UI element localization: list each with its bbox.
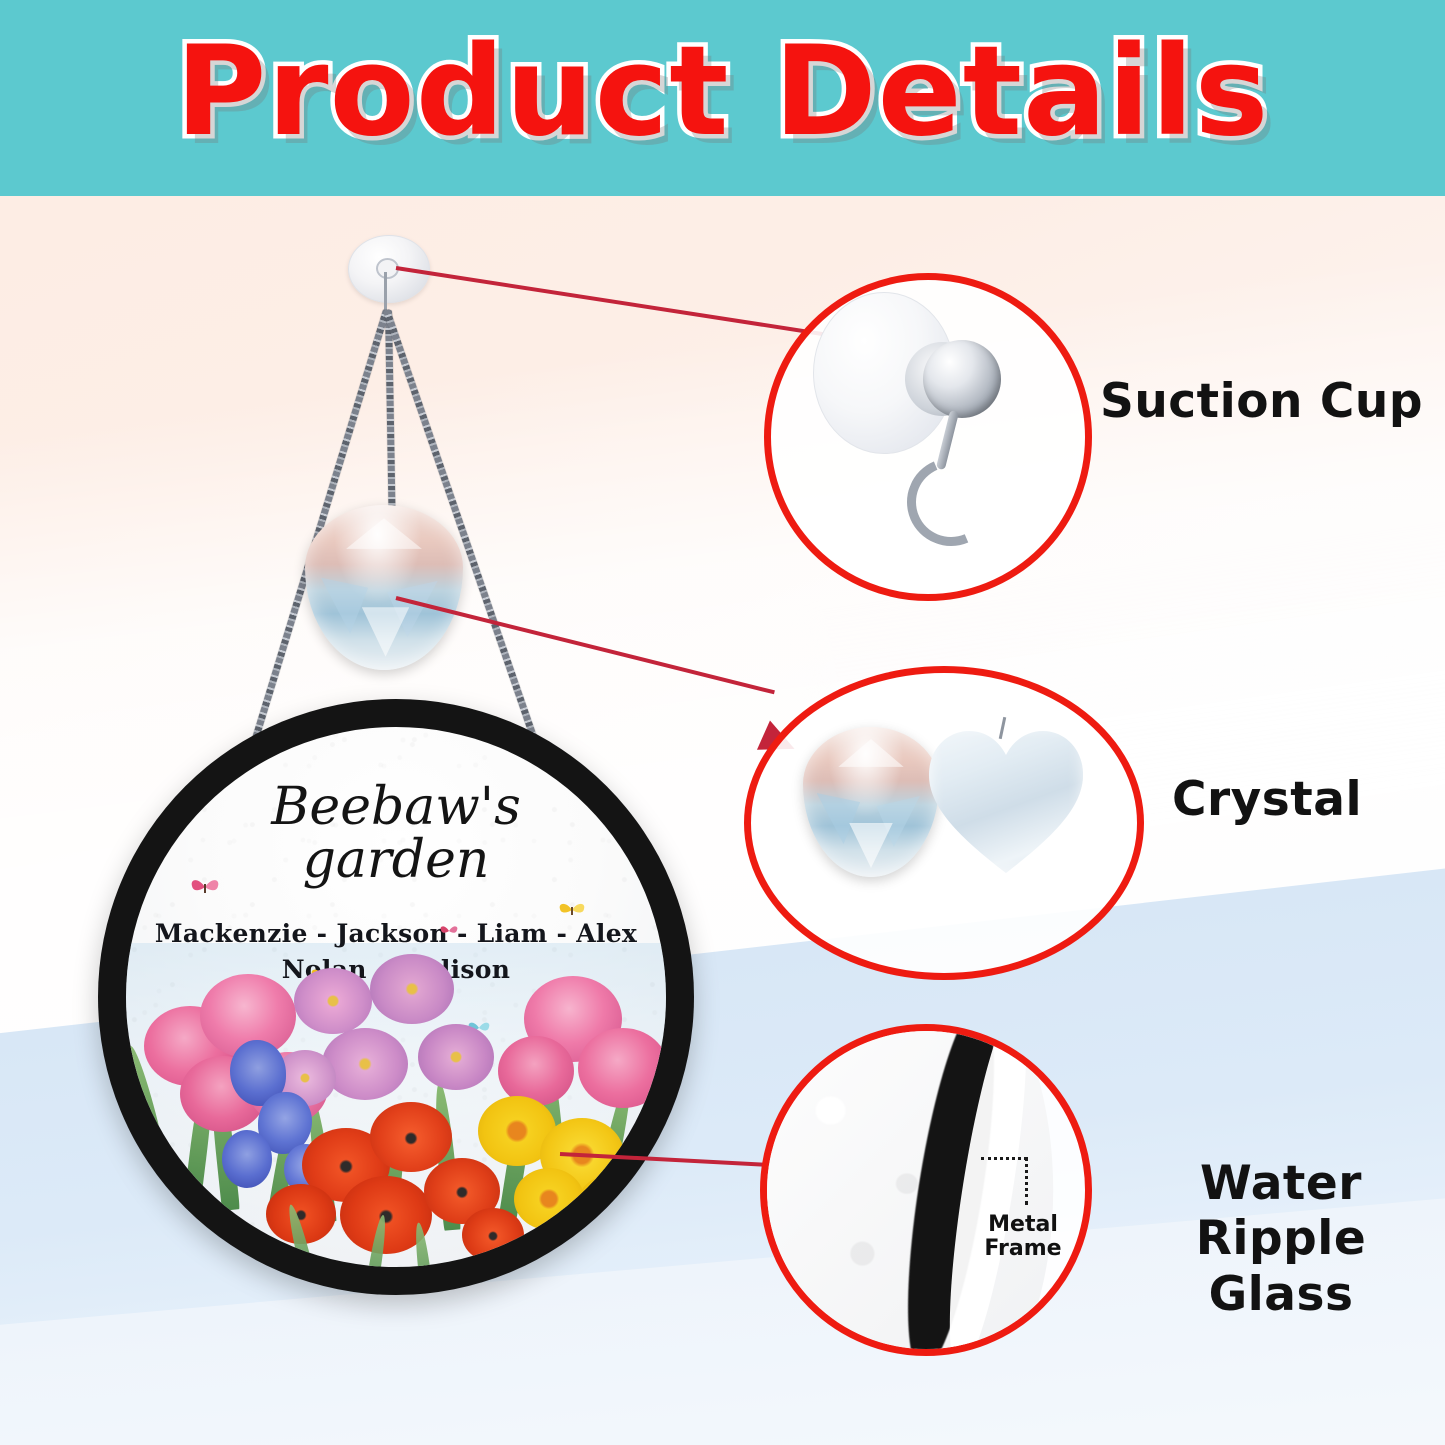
- flower-cornflower-blue: [222, 1130, 272, 1188]
- metal-frame-line2: Frame: [963, 1237, 1083, 1261]
- hook-icon: [894, 445, 1009, 560]
- flower-cosmos-purple: [294, 968, 372, 1034]
- metal-frame-annotation: Metal Frame: [963, 1213, 1083, 1261]
- header-banner: Product Details: [0, 0, 1445, 196]
- crystal-heart-detail: [929, 725, 1083, 873]
- suction-cup-stem: [384, 272, 387, 312]
- callout-suction-cup: [764, 273, 1092, 601]
- callout-label-suction-cup: Suction Cup: [1100, 374, 1423, 429]
- flower-poppy-red: [462, 1208, 524, 1262]
- suncatcher-title-line1: Beebaw's: [271, 777, 521, 837]
- metal-frame-line1: Metal: [963, 1213, 1083, 1237]
- crystal-ball-detail: [803, 727, 939, 877]
- suncatcher-glass-panel: Beebaw's garden Mackenzie - Jackson - Li…: [126, 727, 666, 1267]
- product-details-infographic: Product Details Beebaw's garden Mackenzi…: [0, 0, 1445, 1445]
- crystal-facet: [362, 607, 409, 657]
- floral-meadow-artwork: [126, 932, 666, 1267]
- flower-cosmos-purple: [418, 1024, 494, 1090]
- flower-carnation-pink: [578, 1028, 666, 1108]
- suncatcher-title: Beebaw's garden: [126, 781, 666, 887]
- heart-crystal-pin: [999, 717, 1007, 739]
- suction-cup-knob: [923, 340, 1001, 418]
- ripple-label-line1: Water: [1126, 1156, 1436, 1211]
- crystal-facet: [321, 578, 368, 634]
- flower-daffodil-yellow: [578, 1176, 638, 1230]
- callout-crystal: [744, 666, 1144, 980]
- callout-label-crystal: Crystal: [1172, 772, 1362, 827]
- page-title: Product Details: [0, 30, 1445, 154]
- butterfly-icon-pink: [188, 875, 222, 903]
- flower-cosmos-purple: [370, 954, 454, 1024]
- crystal-facet: [346, 518, 422, 568]
- ripple-label-line2: Ripple Glass: [1126, 1211, 1436, 1322]
- metal-frame-leader-vertical: [1025, 1157, 1028, 1205]
- flower-poppy-red: [370, 1102, 452, 1172]
- flower-daffodil-yellow: [514, 1168, 584, 1230]
- flower-cosmos-purple: [322, 1028, 408, 1100]
- callout-water-ripple-glass: Metal Frame: [760, 1024, 1092, 1356]
- metal-frame-leader-horizontal: [981, 1157, 1027, 1160]
- butterfly-icon-yellow: [556, 899, 588, 925]
- suncatcher-product: Beebaw's garden Mackenzie - Jackson - Li…: [98, 699, 694, 1295]
- callout-label-water-ripple-glass: Water Ripple Glass: [1126, 1156, 1436, 1322]
